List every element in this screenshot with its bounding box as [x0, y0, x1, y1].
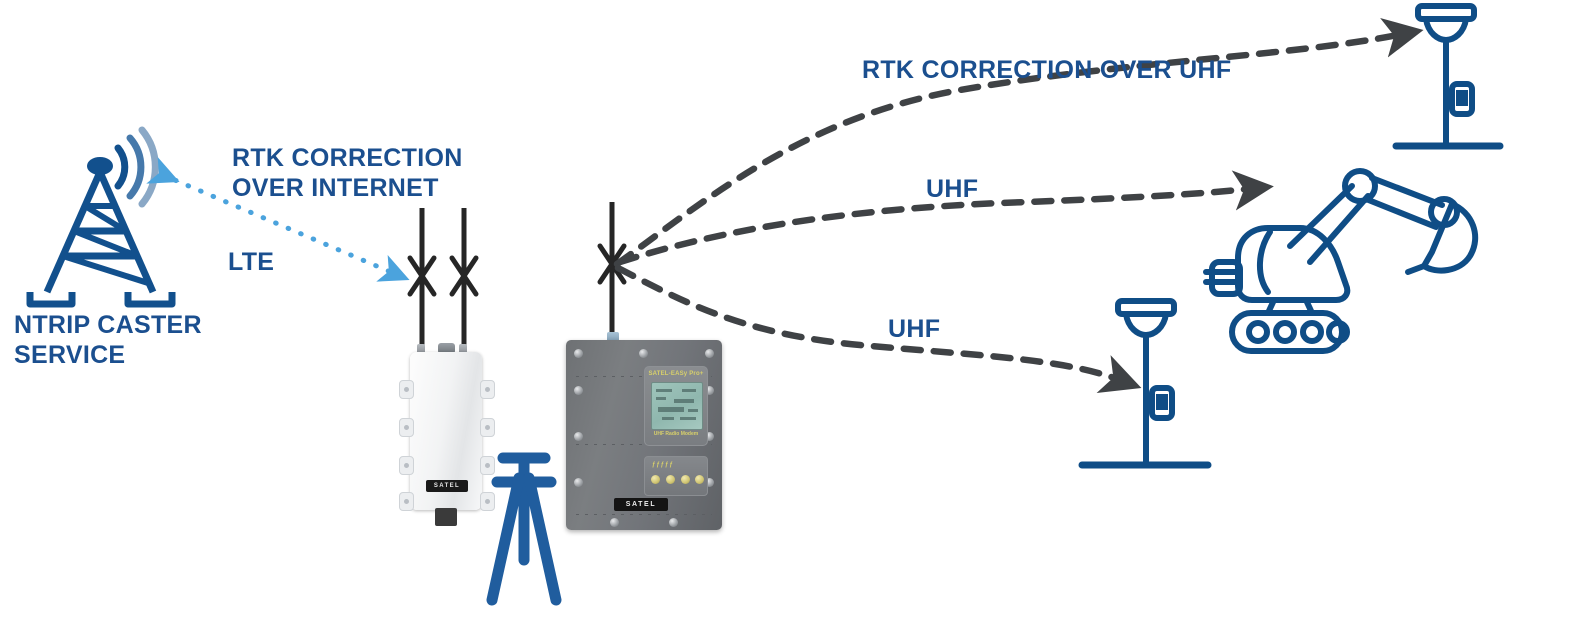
satel-brand-text-white: SATEL	[426, 480, 468, 492]
rover-upper-icon	[1396, 6, 1500, 146]
modem-led-1	[651, 475, 660, 484]
rtk-correction-over-uhf-label: RTK CORRECTION OVER UHF	[862, 56, 1231, 86]
diagram-vector-layer	[0, 0, 1588, 622]
rtk-correction-over-internet-label: RTK CORRECTION OVER INTERNET	[232, 144, 463, 203]
white-unit-antennas	[410, 208, 476, 352]
modem-display-title: SATEL-EASy Pro+	[645, 371, 707, 377]
rover-upper-keypad	[1456, 90, 1468, 106]
ntrip-caster-service-label: NTRIP CASTER SERVICE	[14, 311, 194, 370]
white-satel-enclosure: SATEL	[398, 352, 494, 522]
rover-lower-keypad	[1156, 394, 1168, 410]
satel-nameplate-white: SATEL	[426, 480, 468, 492]
satel-brand-text-grey: SATEL	[614, 498, 668, 511]
grey-modem-antenna	[600, 202, 624, 344]
modem-led-3	[681, 475, 690, 484]
excavator-icon	[1206, 171, 1475, 351]
modem-led-ticks: ƒƒƒƒƒ	[652, 462, 674, 468]
modem-display-subtitle: UHF Radio Modem	[645, 431, 707, 437]
modem-display-panel: SATEL-EASy Pro+ UHF Radio Modem	[644, 366, 708, 446]
lte-label: LTE	[228, 248, 274, 278]
satel-nameplate-grey: SATEL	[614, 498, 668, 511]
modem-led-panel: ƒƒƒƒƒ	[644, 456, 708, 496]
uhf-lower-label: UHF	[888, 315, 940, 345]
cable-connector	[435, 508, 457, 526]
rover-lower-icon	[1082, 301, 1208, 465]
modem-lcd-screen	[651, 382, 703, 430]
modem-led-4	[695, 475, 704, 484]
diagram-canvas: SATEL SATEL-EASy Pro+	[0, 0, 1588, 622]
modem-led-2	[666, 475, 675, 484]
grey-satel-radio-modem: SATEL-EASy Pro+ UHF Radio Modem ƒƒƒƒƒ SA…	[566, 340, 722, 530]
ntrip-tower-icon	[30, 130, 172, 304]
uhf-middle-label: UHF	[926, 175, 978, 205]
